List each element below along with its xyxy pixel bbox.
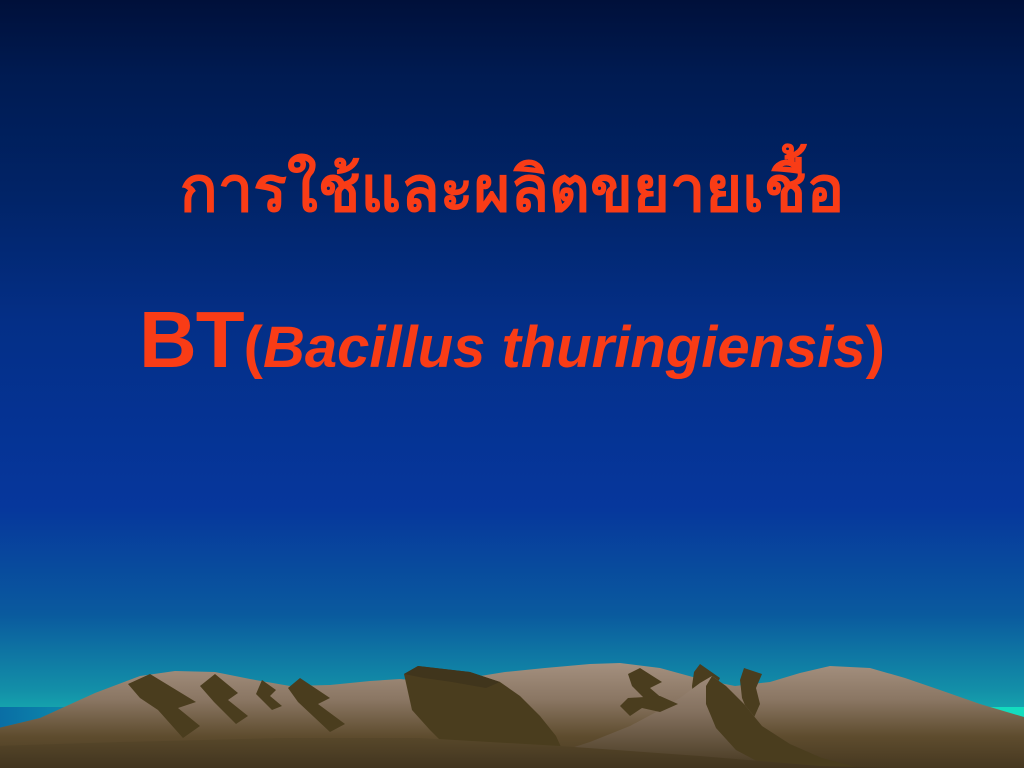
mountain-range-silhouette bbox=[0, 638, 1024, 768]
title-slide: การใช้และผลิตขยายเชื้อ BT(Bacillus thuri… bbox=[0, 0, 1024, 768]
